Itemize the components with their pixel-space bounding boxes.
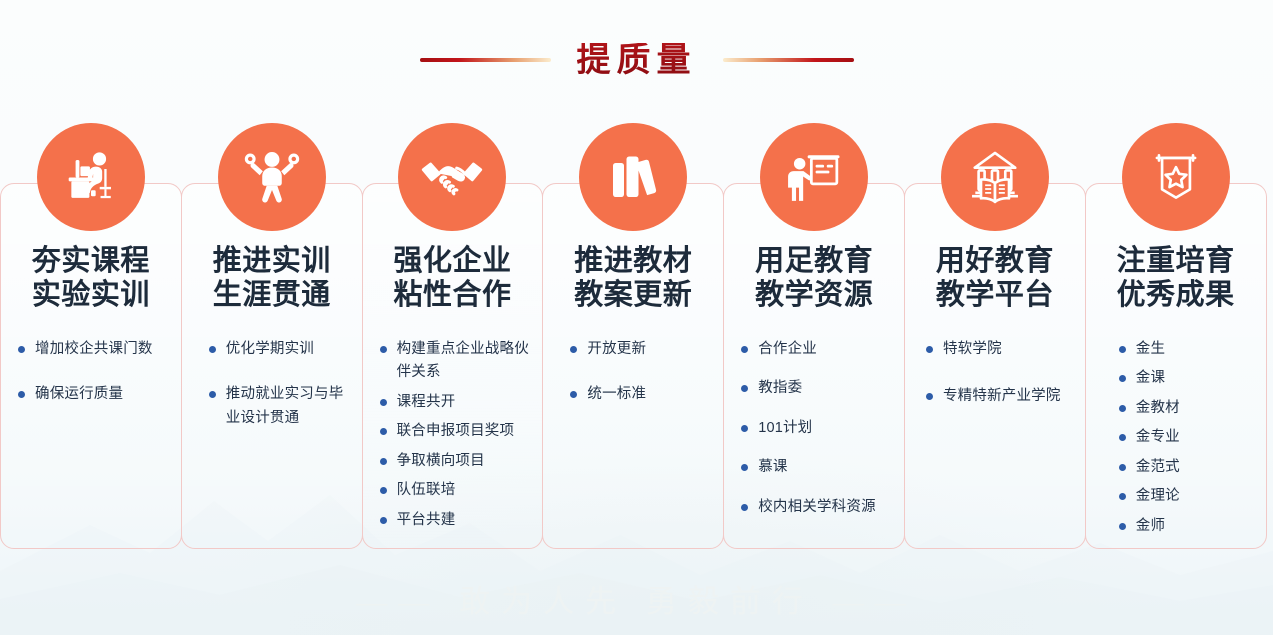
card-qiye-hezuo[interactable]: 强化企业 粘性合作 构建重点企业战略伙伴关系 课程共开 联合申报项目奖项 争取横…	[362, 183, 544, 549]
banner-star-award-icon	[1122, 123, 1230, 231]
title-rule-left-decoration	[420, 58, 551, 62]
list-item: 开放更新	[567, 338, 711, 361]
page-header: 提质量	[0, 36, 1273, 84]
card-title: 强化企业 粘性合作	[363, 244, 543, 312]
list-item: 平台共建	[377, 509, 531, 532]
card-bullet-list: 增加校企共课门数 确保运行质量	[1, 338, 181, 429]
card-title: 注重培育 优秀成果	[1086, 244, 1266, 312]
list-item: 合作企业	[738, 338, 892, 361]
card-bullet-list: 开放更新 统一标准	[543, 338, 723, 429]
list-item: 金生	[1116, 338, 1254, 361]
card-jiaoyu-ziyuan[interactable]: 用足教育 教学资源 合作企业 教指委 101计划 慕课 校内相关学科资源	[723, 183, 905, 549]
books-icon	[579, 123, 687, 231]
person-arms-raised-icon	[218, 123, 326, 231]
classical-building-book-icon	[941, 123, 1049, 231]
card-jiaocai-gengxin[interactable]: 推进教材 教案更新 开放更新 统一标准	[542, 183, 724, 549]
list-item: 专精特新产业学院	[923, 385, 1073, 408]
card-bullet-list: 合作企业 教指委 101计划 慕课 校内相关学科资源	[724, 338, 904, 535]
list-item: 101计划	[738, 417, 892, 440]
card-bullet-list: 优化学期实训 推动就业实习与毕业设计贯通	[182, 338, 362, 452]
card-bullet-list: 金生 金课 金教材 金专业 金范式 金理论 金师	[1086, 338, 1266, 544]
list-item: 金课	[1116, 367, 1254, 390]
list-item: 特软学院	[923, 338, 1073, 361]
card-title: 推进教材 教案更新	[543, 244, 723, 312]
list-item: 金师	[1116, 515, 1254, 538]
title-rule-right-decoration	[723, 58, 854, 62]
list-item: 构建重点企业战略伙伴关系	[377, 338, 531, 385]
card-bullet-list: 特软学院 专精特新产业学院	[905, 338, 1085, 433]
card-title: 用足教育 教学资源	[724, 244, 904, 312]
teacher-whiteboard-icon	[760, 123, 868, 231]
list-item: 慕课	[738, 456, 892, 479]
card-jiaoxue-pingtai[interactable]: 用好教育 教学平台 特软学院 专精特新产业学院	[904, 183, 1086, 549]
card-title: 推进实训 生涯贯通	[182, 244, 362, 312]
card-row: 夯实课程 实验实训 增加校企共课门数 确保运行质量 推进实训 生涯贯通	[0, 183, 1273, 549]
card-youxiu-chengguo[interactable]: 注重培育 优秀成果 金生 金课 金教材 金专业 金范式 金理论 金师	[1085, 183, 1267, 549]
list-item: 金范式	[1116, 456, 1254, 479]
list-item: 统一标准	[567, 383, 711, 406]
list-item: 优化学期实训	[206, 338, 350, 361]
list-item: 确保运行质量	[15, 383, 169, 406]
card-kecheng-shiyan[interactable]: 夯实课程 实验实训 增加校企共课门数 确保运行质量	[0, 183, 182, 549]
list-item: 联合申报项目奖项	[377, 420, 531, 443]
card-shixun-shengya[interactable]: 推进实训 生涯贯通 优化学期实训 推动就业实习与毕业设计贯通	[181, 183, 363, 549]
list-item: 金教材	[1116, 397, 1254, 420]
card-title: 夯实课程 实验实训	[1, 244, 181, 312]
card-title: 用好教育 教学平台	[905, 244, 1085, 312]
list-item: 队伍联培	[377, 479, 531, 502]
footer-watermark: —— 敢为人先 勇毅前行 ——	[0, 576, 1273, 621]
list-item: 校内相关学科资源	[738, 496, 892, 519]
list-item: 金专业	[1116, 426, 1254, 449]
handshake-icon	[398, 123, 506, 231]
list-item: 增加校企共课门数	[15, 338, 169, 361]
page-title: 提质量	[577, 43, 697, 77]
list-item: 推动就业实习与毕业设计贯通	[206, 383, 350, 430]
card-bullet-list: 构建重点企业战略伙伴关系 课程共开 联合申报项目奖项 争取横向项目 队伍联培 平…	[363, 338, 543, 538]
list-item: 课程共开	[377, 391, 531, 414]
infographic-page: 提质量 夯实课程 实验实训	[0, 0, 1273, 635]
person-at-desk-computer-icon	[37, 123, 145, 231]
list-item: 金理论	[1116, 485, 1254, 508]
list-item: 争取横向项目	[377, 450, 531, 473]
list-item: 教指委	[738, 377, 892, 400]
